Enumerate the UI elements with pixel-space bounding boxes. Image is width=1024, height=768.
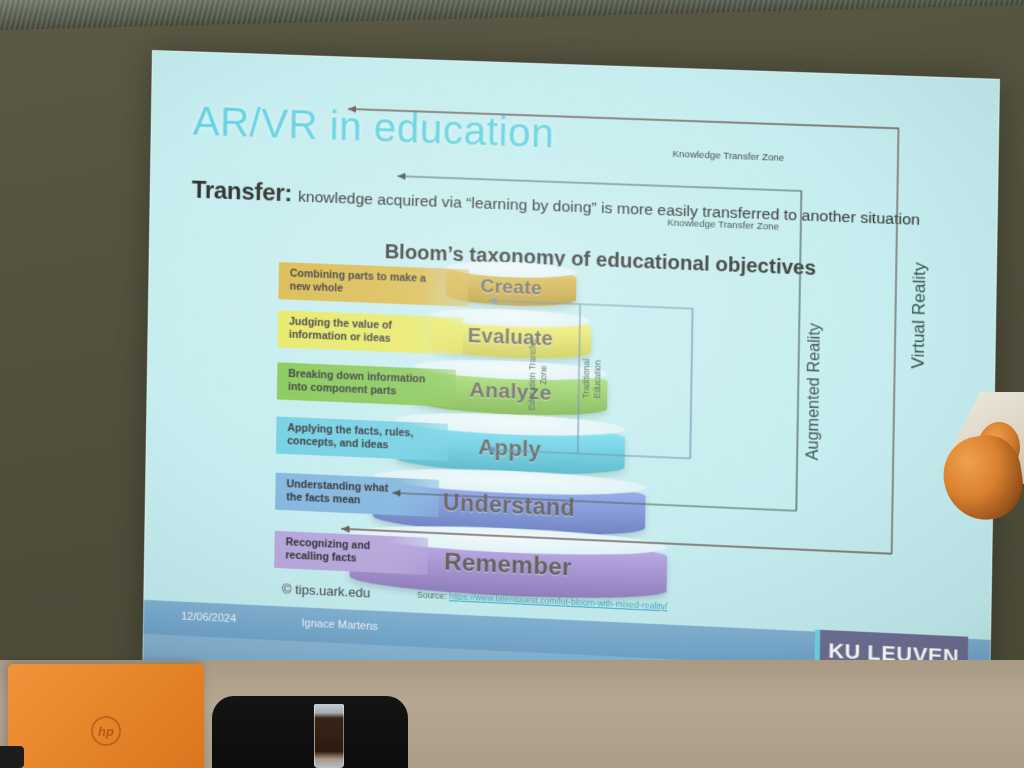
- presentation-slide: AR/VR in education Transfer:knowledge ac…: [142, 50, 1000, 711]
- label-virtual-reality: Virtual Reality: [908, 262, 930, 369]
- source-prefix: Source:: [417, 590, 447, 601]
- chair: [212, 696, 408, 768]
- footer-date: 12/06/2024: [181, 611, 236, 626]
- presenter-hand: [928, 392, 1024, 562]
- label-traditional-education: Traditional Education: [581, 359, 603, 400]
- label-education-transfer-zone: Education Transfer Zone: [527, 338, 550, 411]
- footer-author: Ignace Martens: [301, 617, 378, 633]
- label-augmented-reality: Augmented Reality: [804, 323, 825, 461]
- hp-logo-icon: hp: [91, 716, 121, 746]
- room-background: AR/VR in education Transfer:knowledge ac…: [0, 0, 1024, 768]
- hand-thumb: [938, 430, 1024, 525]
- drinking-glass: [314, 704, 344, 768]
- projection-screen: AR/VR in education Transfer:knowledge ac…: [142, 50, 1000, 711]
- ceiling-strip: [0, 0, 1024, 30]
- hp-laptop: hp: [8, 664, 204, 768]
- laptop-hinge: [0, 746, 24, 768]
